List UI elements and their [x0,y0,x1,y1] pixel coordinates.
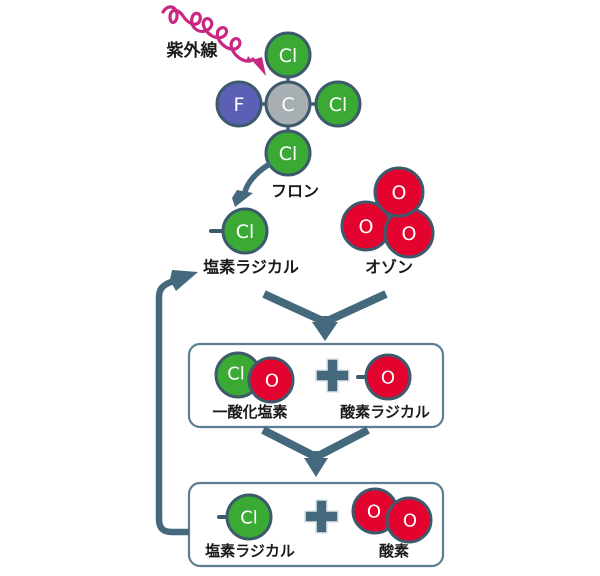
atom-label-cl-radical: Cl [236,221,255,243]
reactants-merge-arrow [264,294,386,341]
oxygen-radical-label: 酸素ラジカル [340,403,430,421]
atom-label-o-radical: O [381,368,395,389]
atom-label-cl-bottom: Cl [279,143,298,165]
atom-label-clo-o: O [265,371,279,392]
chlorine-radical-out-label: 塩素ラジカル [205,542,295,560]
atom-label-o-ozone-left: O [359,216,374,238]
atom-label-cl-top: Cl [279,45,298,67]
uv-label: 紫外線 [167,40,219,61]
atom-label-o-ozone-top: O [392,182,407,204]
cfc-molecule: Cl F C Cl Cl [217,33,360,175]
cfc-label: フロン [271,182,319,201]
atom-label-b2-cl: Cl [240,508,258,529]
ozone-depletion-diagram: 紫外線 Cl F C [0,0,600,576]
atom-c-center: C [266,82,310,126]
atom-label-cl-right: Cl [329,94,348,116]
atom-label-b2-o1: O [367,502,381,523]
diagram-canvas: 紫外線 Cl F C [0,0,600,576]
atom-f-left: F [217,82,261,126]
atom-cl-right: Cl [316,82,360,126]
atom-label-f: F [234,94,245,116]
molecule-chlorine-radical: Cl [211,209,267,253]
atom-label-b2-o2: O [403,511,417,532]
atom-cl-top: Cl [266,33,310,77]
cfc-dissociation-arrow [232,165,268,207]
ozone-label: オゾン [365,258,413,277]
atom-label-clo-cl: Cl [227,364,245,385]
chlorine-radical-label: 塩素ラジカル [203,258,299,277]
atom-label-o-ozone-right: O [402,223,417,245]
products-merge-arrow [263,430,368,477]
oxygen-label: 酸素 [379,542,409,560]
molecule-ozone: O O O [342,168,433,257]
atom-label-c: C [281,94,294,116]
chlorine-monoxide-label: 一酸化塩素 [212,403,287,421]
atom-cl-bottom: Cl [266,131,310,175]
molecule-chlorine-monoxide: Cl O [216,353,293,402]
